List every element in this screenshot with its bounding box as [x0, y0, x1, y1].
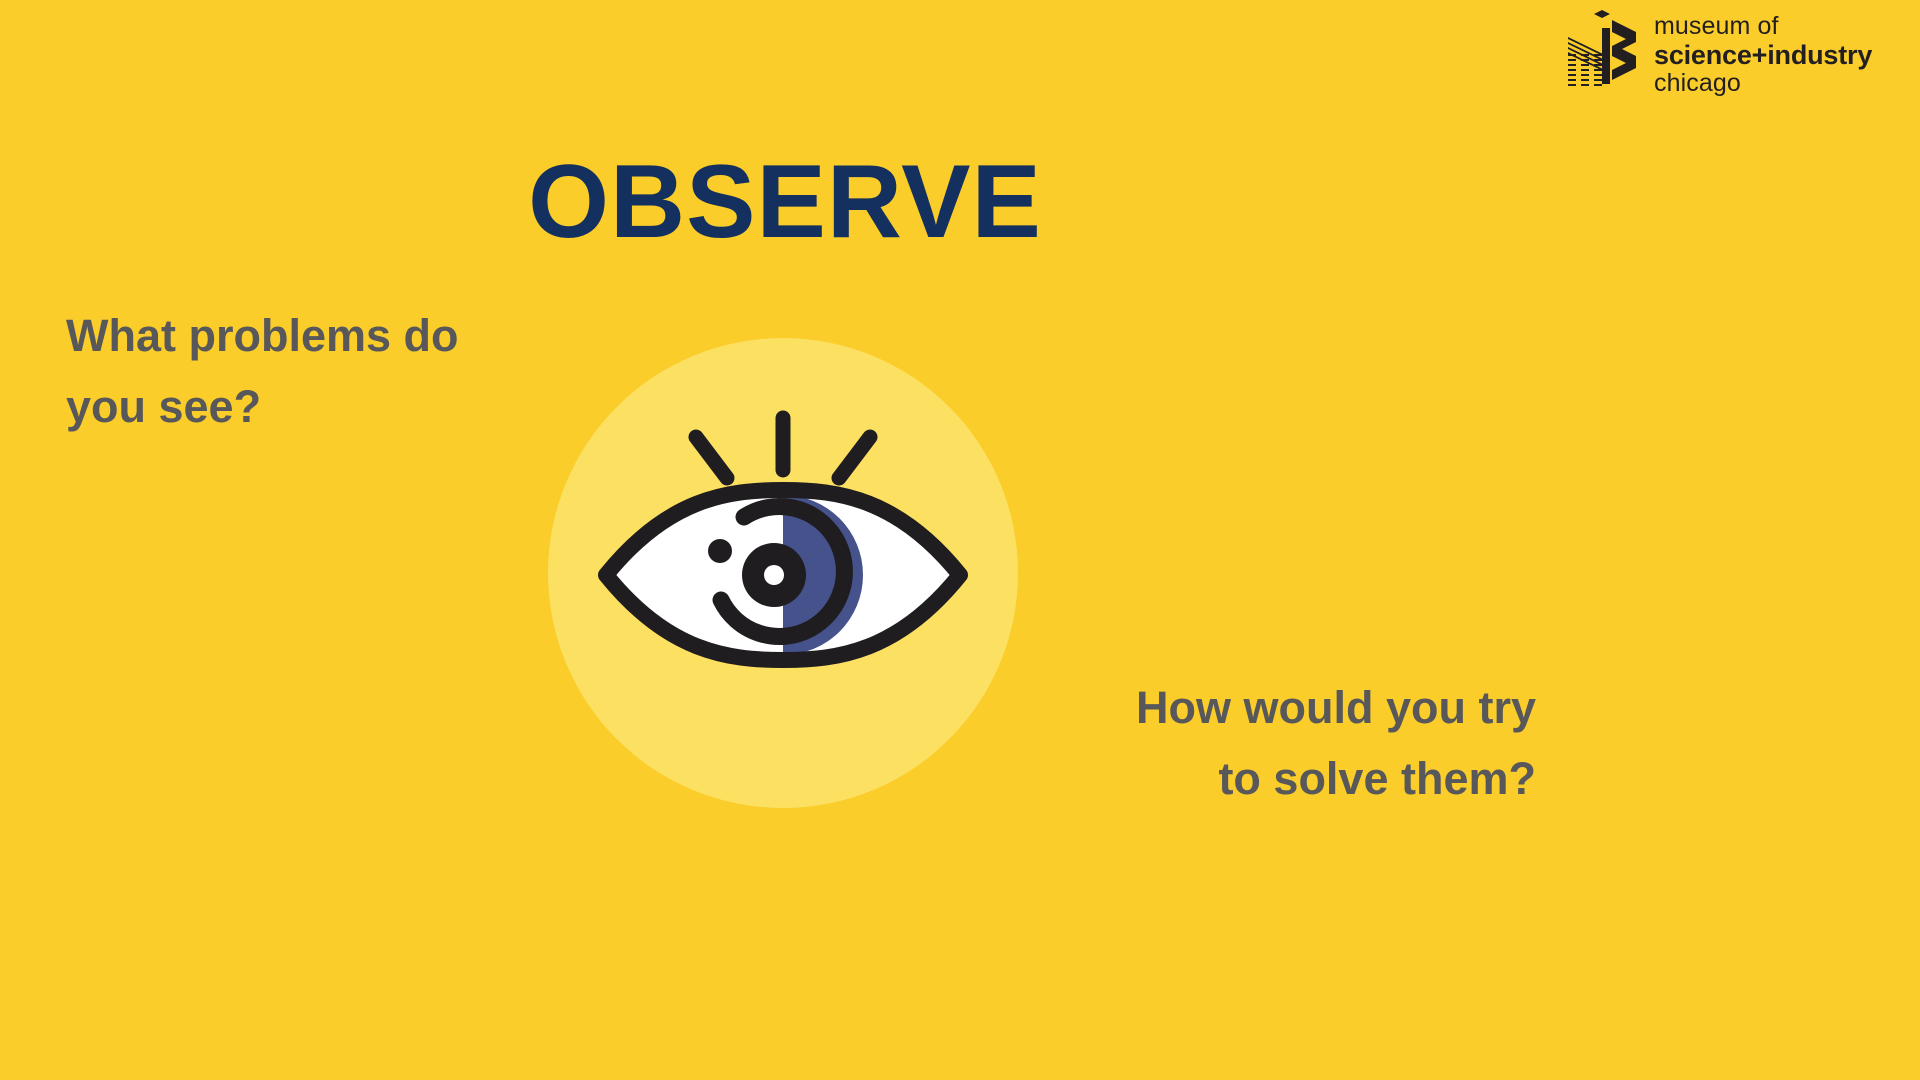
msi-monogram-icon	[1566, 8, 1640, 92]
question-right-line-1: How would you try	[976, 672, 1536, 743]
logo-line-museum-of: museum of	[1654, 14, 1872, 39]
page-title: OBSERVE	[0, 148, 1570, 257]
logo-line-chicago: chicago	[1654, 71, 1872, 96]
eye-pupil-center	[764, 565, 784, 585]
logo-line-science-industry: science+industry	[1654, 42, 1872, 69]
eye-icon	[548, 338, 1018, 808]
eye-highlight-dot	[708, 539, 732, 563]
msi-logo: museum of science+industry chicago	[1566, 8, 1906, 100]
eye-illustration	[548, 338, 1018, 808]
question-left: What problems do you see?	[66, 300, 586, 442]
slide-canvas: museum of science+industry chicago OBSER…	[0, 0, 1920, 1080]
question-right-line-2: to solve them?	[976, 743, 1536, 814]
question-right: How would you try to solve them?	[976, 672, 1536, 814]
question-left-line-1: What problems do	[66, 300, 586, 371]
msi-logo-wordmark: museum of science+industry chicago	[1654, 8, 1872, 96]
question-left-line-2: you see?	[66, 371, 586, 442]
